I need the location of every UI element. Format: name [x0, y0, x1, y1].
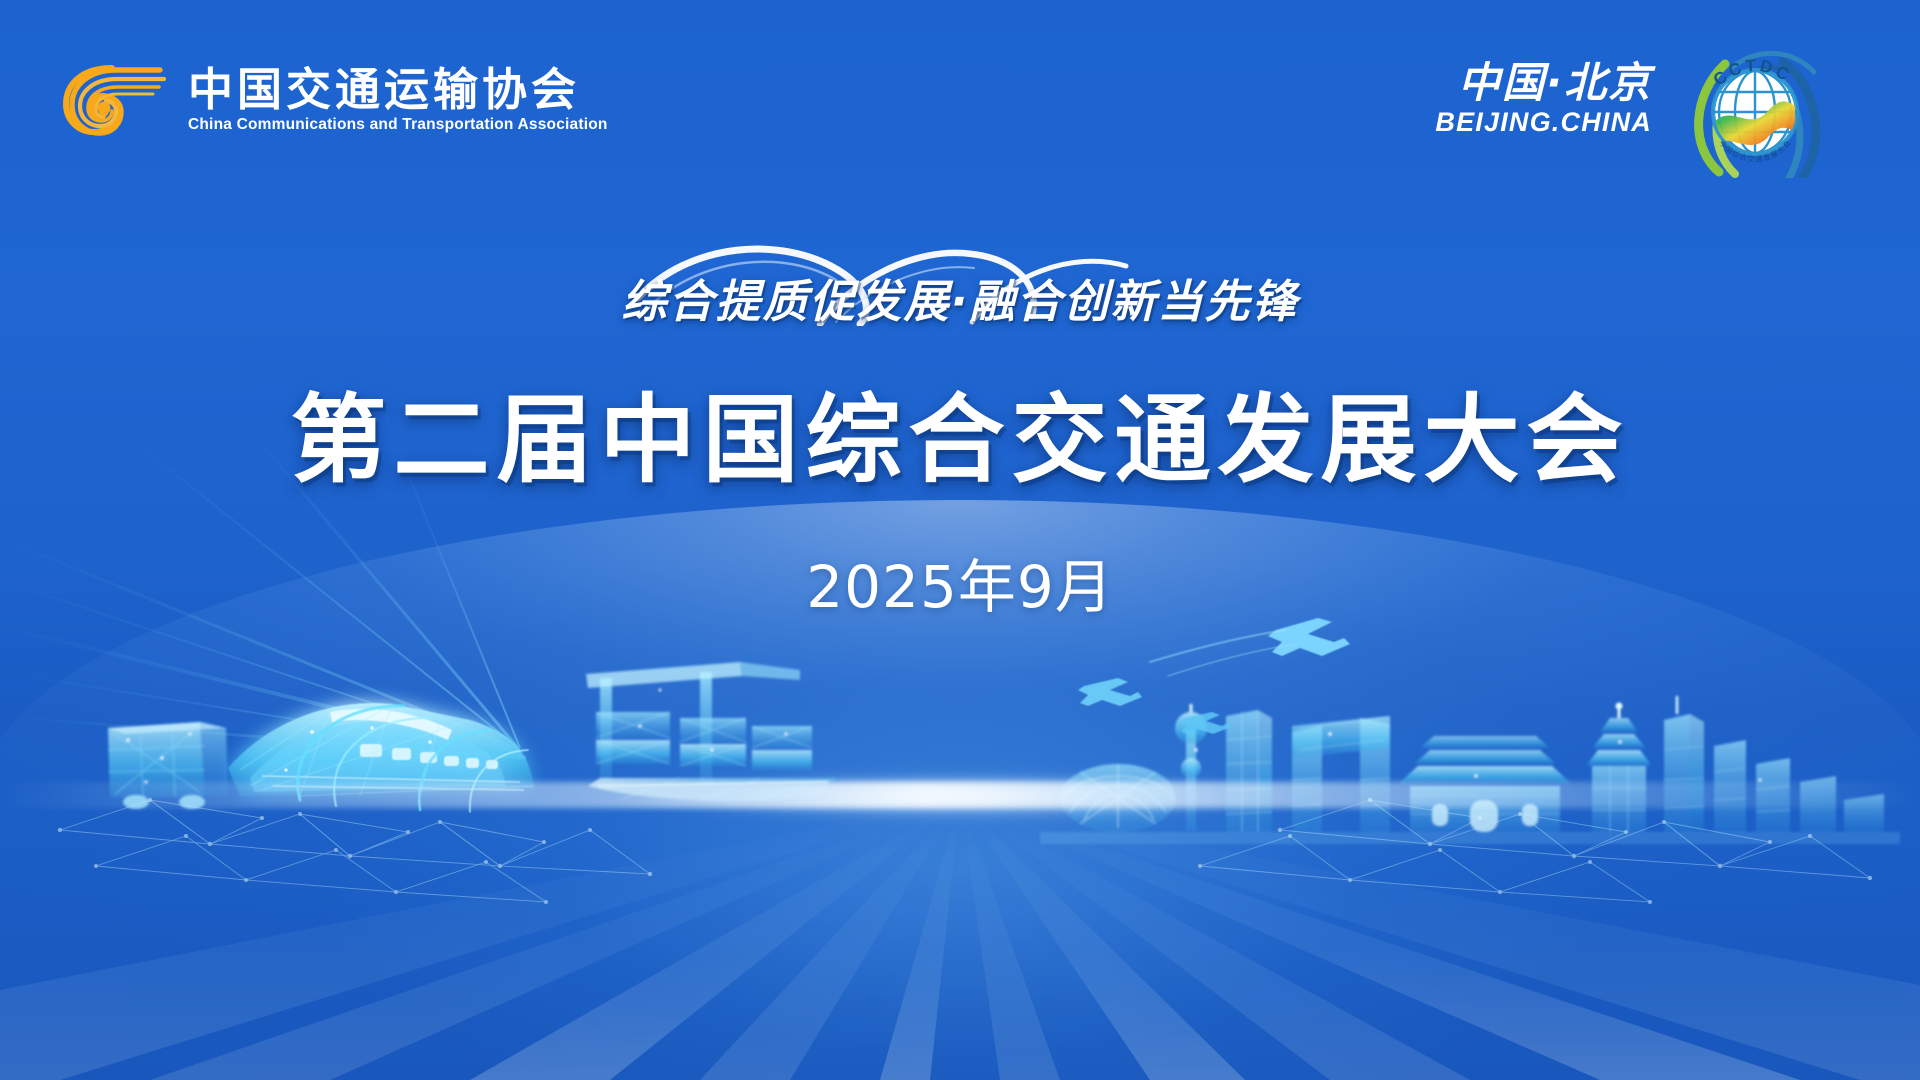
location-cn: 中国·北京 [1435, 60, 1652, 105]
association-logo: 中国交通运输协会 China Communications and Transp… [60, 56, 608, 144]
association-name-en: China Communications and Transportation … [188, 116, 608, 134]
slogan-text: 综合提质促发展·融合创新当先锋 [0, 265, 1920, 330]
airplane-icon-2 [1078, 678, 1142, 706]
airplane-icon-3 [1179, 712, 1231, 734]
temple-of-heaven-icon [1586, 703, 1652, 833]
airplane-contrails [1150, 630, 1296, 676]
page-title: 第二届中国综合交通发展大会 [0, 362, 1920, 501]
association-name-cn: 中国交通运输协会 [188, 66, 608, 113]
location-en: BEIJING.CHINA [1435, 107, 1652, 138]
horizon-glow-core [500, 766, 1420, 826]
spiral-logo-icon [60, 56, 168, 144]
poster-header: 中国交通运输协会 China Communications and Transp… [0, 0, 1920, 185]
location-block: 中国·北京 BEIJING.CHINA [1435, 60, 1652, 138]
poster-canvas: 中国交通运输协会 China Communications and Transp… [0, 0, 1920, 1080]
event-date: 2025年9月 [0, 540, 1920, 624]
skyline-towers-right-icon [1664, 696, 1884, 832]
transport-illustration [0, 600, 1920, 900]
cctdc-globe-icon: CCTDC 中国综合交通发展大会 [1675, 28, 1825, 178]
